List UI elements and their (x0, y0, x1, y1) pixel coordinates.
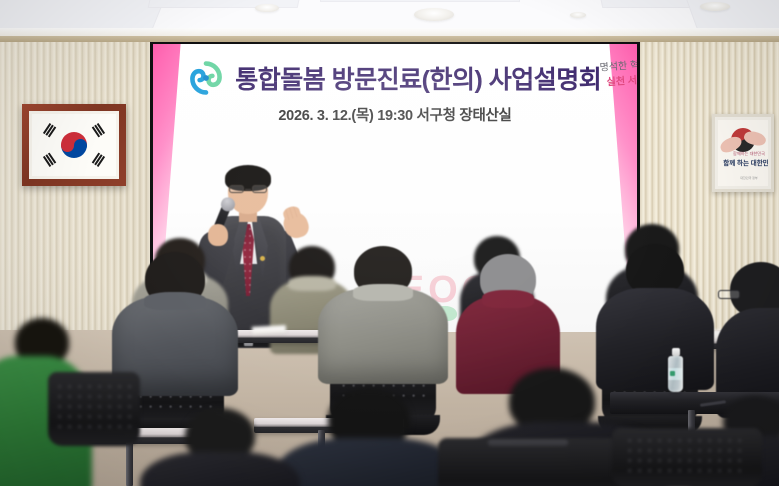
screen-calligraphy: 명석한 혁신, 실천 서구 (582, 57, 637, 92)
audience-member (112, 252, 238, 384)
audience-member (140, 408, 300, 486)
wall-poster: 함께하는 대한민국 함께 하는 대한민국 대한민국 정부 (718, 120, 768, 186)
recessed-light (700, 2, 730, 11)
screen-title-row: 통합돌봄 방문진료(한의) 사업설명회 (153, 60, 637, 96)
trigram-geon (43, 123, 57, 138)
presenter-lapel-pin (260, 256, 265, 261)
collar (144, 292, 206, 310)
water-bottle (668, 348, 683, 392)
desk-leg (126, 440, 133, 486)
audience-member (716, 262, 779, 402)
turtleneck-collar (482, 290, 534, 308)
wall-poster-frame: 함께하는 대한민국 함께 하는 대한민국 대한민국 정부 (712, 114, 774, 192)
glasses-icon (718, 290, 740, 299)
audience-member (456, 254, 560, 380)
chair (48, 372, 140, 446)
chair (612, 428, 762, 486)
audience-member (276, 388, 462, 486)
torso-dark-jacket (276, 438, 462, 486)
korean-flag-frame (22, 104, 126, 186)
seminar-photo: 통합돌봄 방문진료(한의) 사업설명회 2026. 3. 12.(목) 19:3… (0, 0, 779, 486)
torso (318, 288, 448, 384)
poster-subtext: 함께하는 대한민국 (722, 151, 768, 156)
torso (140, 452, 300, 486)
screen-subtitle: 2026. 3. 12.(목) 19:30 서구청 장태산실 (153, 104, 637, 125)
flag-mat (29, 111, 119, 179)
poster-caption: 대한민국 정부 (722, 177, 768, 181)
collar (353, 284, 413, 301)
chair (438, 438, 618, 486)
recessed-light (255, 4, 279, 12)
glasses-icon (229, 185, 267, 194)
trigram-gam (91, 123, 105, 138)
audience-member (318, 246, 448, 370)
trigram-gon (91, 152, 105, 167)
recessed-light (570, 12, 586, 18)
taegukgi-flag (32, 114, 116, 176)
recessed-light (414, 8, 454, 21)
seogu-swirl-logo-icon (189, 61, 223, 95)
trigram-ri (43, 152, 57, 167)
taegeuk-symbol (61, 132, 87, 158)
audience-member (596, 244, 714, 374)
poster-headline: 함께 하는 대한민국 (722, 160, 768, 168)
screen-title: 통합돌봄 방문진료(한의) 사업설명회 (235, 60, 601, 96)
